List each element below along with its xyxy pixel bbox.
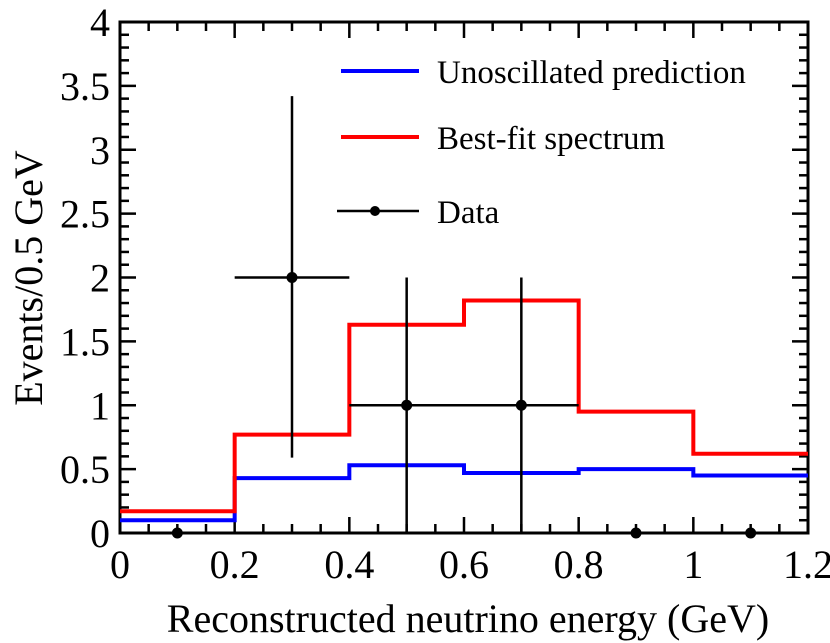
data-point-group [235, 96, 350, 458]
data-marker [631, 528, 642, 539]
y-tick-label: 3.5 [60, 64, 110, 109]
x-tick-label: 1.2 [783, 542, 830, 587]
legend-entry-unoscillated-prediction: Unoscillated prediction [341, 55, 746, 91]
data-series-layer [120, 300, 808, 520]
data-marker [745, 528, 756, 539]
y-tick-label: 0.5 [60, 447, 110, 492]
x-tick-label: 0.8 [554, 542, 604, 587]
plot-frame [120, 22, 808, 533]
data-marker [516, 400, 527, 411]
x-tick-label: 1 [683, 542, 703, 587]
y-tick-label: 4 [90, 0, 110, 45]
data-marker [401, 400, 412, 411]
data-point-group [631, 528, 642, 539]
y-tick-label: 1 [90, 383, 110, 428]
data-marker [172, 528, 183, 539]
x-tick-label: 0.6 [439, 542, 489, 587]
data-point-group [349, 278, 464, 534]
plot-canvas: 00.20.40.60.811.2 00.511.522.533.54 Even… [0, 0, 830, 643]
legend: Unoscillated prediction Best-fit spectru… [337, 55, 746, 231]
y-tick-label: 1.5 [60, 319, 110, 364]
x-tick-label: 0.2 [210, 542, 260, 587]
y-tick-label: 2.5 [60, 192, 110, 237]
legend-entry-best-fit-spectrum: Best-fit spectrum [341, 121, 666, 157]
y-tick-labels: 00.511.522.533.54 [60, 0, 110, 556]
data-point-group [745, 528, 756, 539]
legend-label-data: Data [437, 195, 500, 231]
y-axis-title: Events/0.5 GeV [6, 150, 51, 406]
legend-marker-data-point [370, 206, 380, 216]
x-axis-title: Reconstructed neutrino energy (GeV) [167, 596, 769, 641]
x-tick-label: 0 [110, 542, 130, 587]
legend-entry-data: Data [337, 195, 500, 231]
data-marker [287, 272, 298, 283]
data-point-group [464, 278, 579, 534]
legend-label-unoscillated-prediction: Unoscillated prediction [437, 55, 746, 91]
data-point-group [172, 528, 183, 539]
y-tick-label: 3 [90, 128, 110, 173]
legend-label-best-fit-spectrum: Best-fit spectrum [437, 121, 666, 157]
y-tick-label: 0 [90, 511, 110, 556]
axis-ticks [120, 22, 808, 533]
x-tick-label: 0.4 [324, 542, 374, 587]
y-tick-label: 2 [90, 256, 110, 301]
x-tick-labels: 00.20.40.60.811.2 [110, 542, 830, 587]
chart-container: 00.20.40.60.811.2 00.511.522.533.54 Even… [0, 0, 830, 643]
